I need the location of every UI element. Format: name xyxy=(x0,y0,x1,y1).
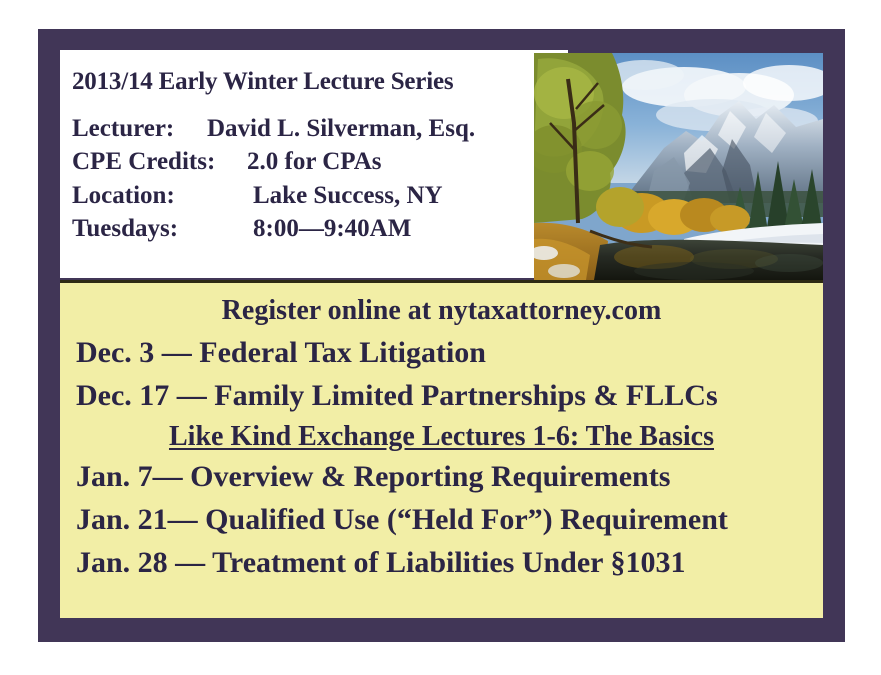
detail-row-cpe-credits: CPE Credits: 2.0 for CPAs xyxy=(72,145,568,178)
register-online-line: Register online at nytaxattorney.com xyxy=(60,297,823,325)
schedule-item-jan-21: Jan. 21— Qualified Use (“Held For”) Requ… xyxy=(66,498,823,535)
detail-value-location: Lake Success, NY xyxy=(247,179,443,212)
lecture-details-list: Lecturer: David L. Silverman, Esq. CPE C… xyxy=(72,112,568,245)
schedule-item-jan-7: Jan. 7— Overview & Reporting Requirement… xyxy=(66,455,823,492)
detail-value-cpe-credits: 2.0 for CPAs xyxy=(247,145,381,178)
detail-row-lecturer: Lecturer: David L. Silverman, Esq. xyxy=(72,112,568,145)
schedule-section-heading-like-kind-exchange: Like Kind Exchange Lectures 1-6: The Bas… xyxy=(60,417,823,451)
detail-label-cpe-credits: CPE Credits: xyxy=(72,145,247,178)
detail-label-tuesdays: Tuesdays: xyxy=(72,212,247,245)
mountain-river-autumn-landscape-photo xyxy=(534,53,823,280)
schedule-item-dec-17: Dec. 17 — Family Limited Partnerships & … xyxy=(66,374,823,411)
flyer-frame: 2013/14 Early Winter Lecture Series Lect… xyxy=(38,29,845,642)
page-title: 2013/14 Early Winter Lecture Series xyxy=(72,68,568,96)
detail-label-location: Location: xyxy=(72,179,247,212)
schedule-panel: Register online at nytaxattorney.com Dec… xyxy=(60,280,823,618)
schedule-section-heading-text: Like Kind Exchange Lectures 1-6: The Bas… xyxy=(169,421,714,452)
lecture-info-panel: 2013/14 Early Winter Lecture Series Lect… xyxy=(60,50,568,278)
schedule-item-jan-28: Jan. 28 — Treatment of Liabilities Under… xyxy=(66,541,823,578)
detail-row-location: Location: Lake Success, NY xyxy=(72,179,568,212)
detail-row-tuesdays: Tuesdays: 8:00—9:40AM xyxy=(72,212,568,245)
detail-value-lecturer: David L. Silverman, Esq. xyxy=(194,112,475,145)
schedule-item-dec-3: Dec. 3 — Federal Tax Litigation xyxy=(66,331,823,368)
detail-label-lecturer: Lecturer: xyxy=(72,112,194,145)
detail-value-tuesdays: 8:00—9:40AM xyxy=(247,212,411,245)
